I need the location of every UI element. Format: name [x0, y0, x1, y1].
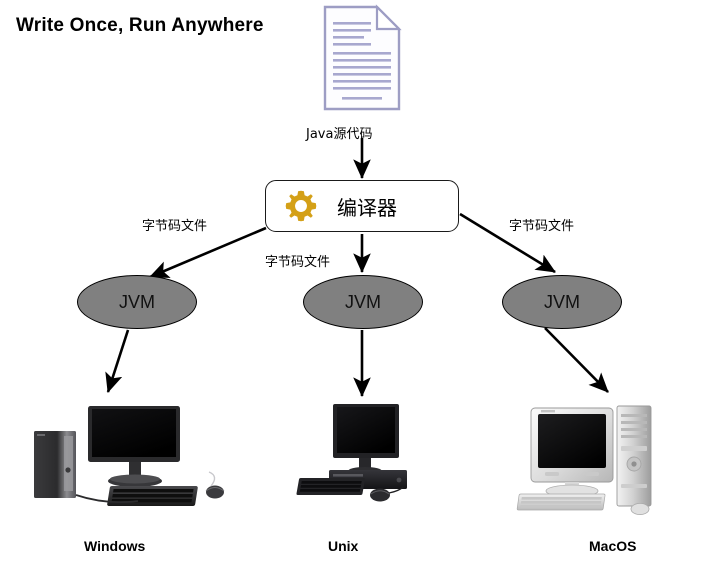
- jvm-node-macos[interactable]: JVM: [502, 275, 622, 329]
- machine-image-windows: [26, 398, 226, 516]
- gear-icon: [283, 188, 319, 224]
- diagram-canvas: Write Once, Run Anywhere: [0, 0, 702, 569]
- machine-image-macos: [515, 396, 655, 518]
- jvm-label: JVM: [544, 292, 580, 313]
- edge-label-bytecode-left: 字节码文件: [142, 215, 207, 234]
- edge-label-bytecode-right: 字节码文件: [509, 215, 574, 234]
- compiler-label: 编译器: [337, 192, 397, 221]
- arrow-compiler-to-jvm-left: [150, 228, 266, 277]
- platform-label-windows: Windows: [84, 538, 145, 554]
- compiler-node[interactable]: 编译器: [265, 180, 459, 232]
- document-icon: [320, 4, 404, 114]
- edge-label-bytecode-mid: 字节码文件: [265, 251, 330, 270]
- page-title: Write Once, Run Anywhere: [16, 15, 264, 37]
- source-label: Java源代码: [306, 123, 372, 142]
- machine-image-unix: [295, 400, 415, 512]
- arrow-jvm-right-to-macos: [545, 328, 608, 392]
- arrow-jvm-left-to-windows: [108, 330, 128, 392]
- platform-label-unix: Unix: [328, 538, 358, 554]
- jvm-label: JVM: [119, 292, 155, 313]
- jvm-node-unix[interactable]: JVM: [303, 275, 423, 329]
- jvm-node-windows[interactable]: JVM: [77, 275, 197, 329]
- platform-label-macos: MacOS: [589, 538, 636, 554]
- jvm-label: JVM: [345, 292, 381, 313]
